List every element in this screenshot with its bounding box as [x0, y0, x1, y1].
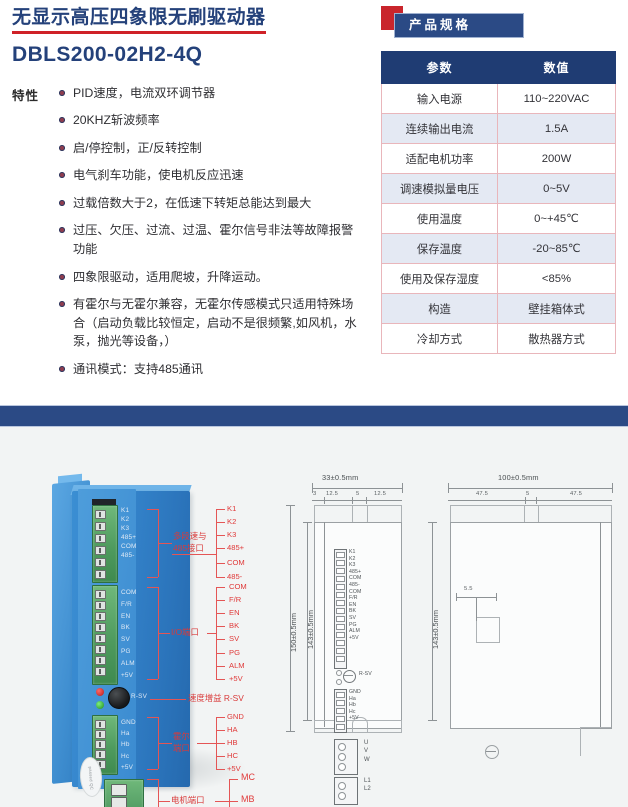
led-red-indicator	[96, 688, 104, 696]
feature-item: 电气刹车功能，使电机反应迅速	[58, 166, 364, 185]
callout-hall-line2: 端口	[173, 743, 190, 753]
spec-name: 调速模拟量电压	[382, 174, 498, 204]
front-terminal-strip-hall	[334, 689, 347, 733]
callout-item-pg: PG	[229, 648, 240, 657]
section-divider-band	[0, 405, 628, 427]
dim-front-sub-2: 12.5	[326, 491, 338, 497]
spec-value: <85%	[498, 264, 616, 294]
side-body-outline	[450, 522, 612, 729]
callout-item-fr: F/R	[229, 595, 241, 604]
front-led-1	[336, 670, 342, 676]
column-header-parameter: 参数	[382, 52, 498, 84]
callout-item-io-com: COM	[229, 582, 247, 591]
spec-name: 使用温度	[382, 204, 498, 234]
front-led-2	[336, 679, 342, 685]
front-terminal-labels: K1 K2 K3 485+ COM 485- COM F/R EN BK SV …	[349, 549, 361, 641]
terminal-block-485	[92, 505, 118, 583]
terminal-block-motor	[104, 779, 144, 807]
callout-item-hall5v: +5V	[227, 764, 241, 773]
features-label: 特性	[12, 84, 58, 104]
terminal-block-io	[92, 585, 118, 685]
column-header-value: 数值	[498, 52, 616, 84]
dim-side-sub-1: 47.5	[476, 491, 488, 497]
callout-motor-label: 电机端口	[171, 795, 205, 805]
spec-name: 冷却方式	[382, 324, 498, 354]
spec-name: 输入电源	[382, 84, 498, 114]
dim-front-sub-4: 12.5	[374, 491, 386, 497]
spec-value: 1.5A	[498, 114, 616, 144]
side-bottom-detail	[580, 727, 611, 756]
feature-item: PID速度，电流双环调节器	[58, 84, 364, 103]
feature-item: 启/停控制，正/反转控制	[58, 139, 364, 158]
front-potentiometer	[343, 670, 356, 683]
features-list: PID速度，电流双环调节器 20KHZ斩波频率 启/停控制，正/反转控制 电气刹…	[58, 84, 364, 388]
product-info-column: 无显示高压四象限无刷驱动器 DBLS200-02H2-4Q 特性 PID速度，电…	[12, 6, 364, 387]
side-detail-box	[476, 617, 500, 643]
spec-value: 壁挂箱体式	[498, 294, 616, 324]
spec-value: 110~220VAC	[498, 84, 616, 114]
front-terminal-strip-main	[334, 549, 347, 669]
spec-value: 200W	[498, 144, 616, 174]
product-datasheet-page: 无显示高压四象限无刷驱动器 DBLS200-02H2-4Q 特性 PID速度，电…	[0, 0, 628, 807]
callout-item-mc: MC	[241, 773, 255, 782]
table-row: 调速模拟量电压 0~5V	[382, 174, 616, 204]
callout-item-ha: HA	[227, 725, 238, 734]
callout-item-k1: K1	[227, 504, 236, 513]
feature-item: 四象限驱动，适用爬坡，升降运动。	[58, 268, 364, 287]
dim-side-sub-2: 5	[526, 491, 529, 497]
table-row: 保存温度 -20~85℃	[382, 234, 616, 264]
table-row: 构造 壁挂箱体式	[382, 294, 616, 324]
callout-item-hc: HC	[227, 751, 238, 760]
table-row: 使用温度 0~+45℃	[382, 204, 616, 234]
dim-front-sub-1: 3	[313, 491, 316, 497]
spec-value: 0~+45℃	[498, 204, 616, 234]
dim-front-width: 33±0.5mm	[322, 473, 358, 482]
dim-side-small: 5.5	[464, 586, 473, 592]
callout-item-k2: K2	[227, 517, 236, 526]
face-label-io-group: COM F/R EN BK SV PG ALM +5V	[121, 587, 137, 681]
callout-item-485p: 485+	[227, 543, 244, 552]
table-row: 冷却方式 散热器方式	[382, 324, 616, 354]
callout-hall-line1: 霍尔	[173, 731, 190, 741]
dim-front-sub-3: 5	[356, 491, 359, 497]
table-row: 连续输出电流 1.5A	[382, 114, 616, 144]
spec-heading: 产品规格	[381, 6, 615, 36]
feature-item: 过压、欠压、过流、过温、霍尔信号非法等故障报警功能	[58, 221, 364, 258]
diagram-section: passed QC K1 K2 K3 485+ COM 485- COM F/R…	[0, 427, 628, 807]
spec-name: 保存温度	[382, 234, 498, 264]
page-title: 无显示高压四象限无刷驱动器	[12, 6, 266, 34]
led-green-indicator	[96, 701, 104, 709]
callout-485-line1: 多段速与	[173, 531, 207, 541]
leader-rsv	[150, 699, 186, 700]
face-label-hall-group: GND Ha Hb Hc +5V	[121, 717, 136, 773]
spec-value: 散热器方式	[498, 324, 616, 354]
side-screw-hole	[485, 745, 499, 759]
dim-side-height-inner: 143±0.5mm	[431, 610, 440, 649]
product-photo: passed QC K1 K2 K3 485+ COM 485- COM F/R…	[0, 427, 280, 807]
technical-drawings: 33±0.5mm 3 12.5 5 12.5	[280, 427, 628, 807]
callout-item-alm: ALM	[229, 661, 245, 670]
table-row: 输入电源 110~220VAC	[382, 84, 616, 114]
spec-value: 0~5V	[498, 174, 616, 204]
spec-value: -20~85℃	[498, 234, 616, 264]
front-power-labels-uvw: U V W	[364, 739, 370, 764]
spec-column: 产品规格 参数 数值 输入电源 110~220VAC	[381, 6, 615, 354]
dim-front-height-inner: 143±0.5mm	[306, 610, 315, 649]
callout-io-label: I/O端口	[171, 627, 199, 637]
face-label-rsv: R-SV	[131, 693, 147, 702]
feature-item: 通讯模式：支持485通讯	[58, 360, 364, 379]
dim-front-height-outer: 150±0.5mm	[289, 613, 298, 652]
specifications-table: 参数 数值 输入电源 110~220VAC 连续输出电流 1.5A 适配电机功率	[381, 51, 616, 354]
spec-name: 构造	[382, 294, 498, 324]
callout-item-485m: 485-	[227, 572, 242, 581]
callout-item-5v: +5V	[229, 674, 243, 683]
callout-speed-gain: 速度增益 R-SV	[188, 693, 244, 703]
face-label-485-group: K1 K2 K3 485+ COM 485-	[121, 507, 137, 560]
callout-item-com: COM	[227, 558, 245, 567]
table-row: 使用及保存湿度 <85%	[382, 264, 616, 294]
spec-heading-bar: 产品规格	[394, 13, 524, 38]
feature-item: 20KHZ斩波频率	[58, 111, 364, 130]
spec-name: 连续输出电流	[382, 114, 498, 144]
table-row: 适配电机功率 200W	[382, 144, 616, 174]
spec-name: 适配电机功率	[382, 144, 498, 174]
table-header-row: 参数 数值	[382, 52, 616, 84]
front-connector-uvw	[334, 739, 358, 775]
front-hall-labels: GND Ha Hb Hc +5V	[349, 689, 361, 722]
callout-item-mb: MB	[241, 795, 255, 804]
spec-name: 使用及保存湿度	[382, 264, 498, 294]
callout-485-line2: 485接口	[173, 543, 204, 553]
product-model: DBLS200-02H2-4Q	[12, 43, 364, 67]
callout-item-en: EN	[229, 608, 240, 617]
front-label-rsv: R-SV	[359, 671, 372, 678]
qc-sticker-text: passed QC	[88, 766, 94, 786]
leader-bracket-motor	[158, 779, 159, 807]
feature-item: 有霍尔与无霍尔兼容，无霍尔传感模式只适用特殊场合（启动负载比较恒定，启动不是很频…	[58, 295, 364, 351]
feature-item: 过载倍数大于2，在低速下转矩总能达到最大	[58, 194, 364, 213]
front-power-labels-l: L1 L2	[364, 777, 371, 794]
speed-gain-potentiometer[interactable]	[108, 687, 130, 709]
top-info-section: 无显示高压四象限无刷驱动器 DBLS200-02H2-4Q 特性 PID速度，电…	[0, 0, 628, 405]
front-connector-l1l2	[334, 777, 358, 805]
callout-item-sv: SV	[229, 634, 239, 643]
callout-item-k3: K3	[227, 530, 236, 539]
features-block: 特性 PID速度，电流双环调节器 20KHZ斩波频率 启/停控制，正/反转控制 …	[12, 84, 364, 388]
spec-heading-text: 产品规格	[395, 14, 523, 37]
callout-item-bk: BK	[229, 621, 239, 630]
dim-side-width: 100±0.5mm	[498, 473, 539, 482]
callout-item-hb: HB	[227, 738, 238, 747]
dim-side-sub-3: 47.5	[570, 491, 582, 497]
callout-item-gnd: GND	[227, 712, 244, 721]
